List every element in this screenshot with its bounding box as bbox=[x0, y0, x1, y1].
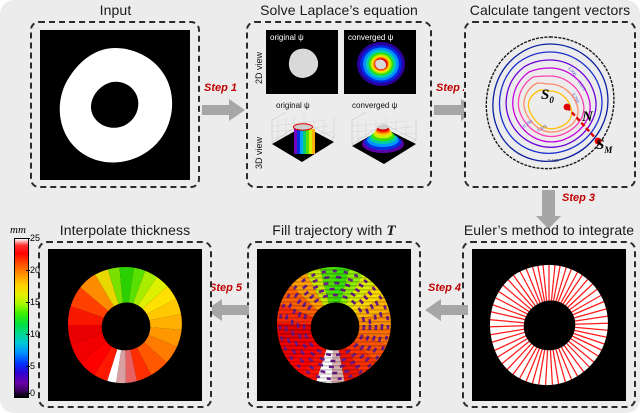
tangent-label-s0: S0 bbox=[541, 87, 554, 105]
input-binary-image bbox=[40, 30, 190, 180]
step-1-arrow-right-icon bbox=[202, 98, 246, 127]
panel-interpolate: Interpolate thickness bbox=[36, 222, 214, 410]
panel-fill-title: Fill trajectory with T bbox=[245, 222, 423, 240]
panel-fill-title-text: Fill trajectory with bbox=[272, 222, 386, 238]
colorbar-tick-10: 10 bbox=[30, 329, 40, 339]
colorbar-unit-label: mm bbox=[10, 224, 26, 236]
panel-input-title: Input bbox=[28, 2, 203, 18]
laplace-converged-3d-image bbox=[342, 112, 422, 176]
interpolated-thickness-image bbox=[48, 249, 202, 401]
laplace-original-3d-caption: original ψ bbox=[276, 101, 310, 110]
panel-fill: Fill trajectory with T bbox=[245, 222, 423, 410]
thickness-colorbar: mm 25 20 15 10 5 0 bbox=[8, 238, 54, 400]
svg-text:0.125: 0.125 bbox=[548, 158, 559, 163]
colorbar-tick-20: 20 bbox=[30, 265, 40, 275]
euler-trajectory-image bbox=[472, 249, 626, 401]
panel-euler-title: Euler’s method to integrate bbox=[460, 222, 638, 238]
laplace-original-3d-image bbox=[264, 112, 340, 176]
panel-tangent: Calculate tangent vectors 1.000 0.875 bbox=[462, 2, 638, 190]
laplace-original-2d-caption: original ψ bbox=[270, 33, 304, 42]
step-4-label: Step 4 bbox=[428, 282, 461, 294]
figure-canvas: Input Step 1 Solve Laplace’s equation 2D… bbox=[0, 0, 640, 413]
colorbar-tick-5: 5 bbox=[30, 361, 35, 371]
step-4: Step 4 bbox=[424, 282, 472, 328]
laplace-row-label-3d: 3D view bbox=[254, 119, 264, 169]
laplace-row-label-2d: 2D view bbox=[254, 34, 264, 84]
laplace-converged-3d-caption: converged ψ bbox=[352, 101, 397, 110]
panel-tangent-title: Calculate tangent vectors bbox=[462, 2, 638, 18]
panel-fill-title-symbol: T bbox=[386, 223, 395, 239]
panel-input: Input bbox=[28, 2, 203, 190]
step-1-label: Step 1 bbox=[204, 82, 237, 94]
tangent-label-sm: SM bbox=[596, 137, 612, 155]
step-4-arrow-left-icon bbox=[424, 298, 468, 327]
tangent-label-n: N bbox=[582, 109, 593, 126]
panel-laplace-title: Solve Laplace’s equation bbox=[244, 2, 434, 18]
colorbar-gradient bbox=[14, 238, 29, 398]
colorbar-tick-15: 15 bbox=[30, 297, 40, 307]
panel-interpolate-title: Interpolate thickness bbox=[36, 222, 214, 238]
colorbar-tick-0: 0 bbox=[30, 388, 35, 398]
colorbar-tick-25: 25 bbox=[30, 233, 40, 243]
panel-euler: Euler’s method to integrate bbox=[460, 222, 638, 410]
panel-laplace: Solve Laplace’s equation 2D view 3D view… bbox=[244, 2, 434, 190]
fill-trajectory-image bbox=[257, 249, 411, 401]
step-1: Step 1 bbox=[200, 82, 248, 128]
laplace-converged-2d-caption: converged ψ bbox=[348, 33, 393, 42]
step-3-label: Step 3 bbox=[562, 192, 595, 204]
